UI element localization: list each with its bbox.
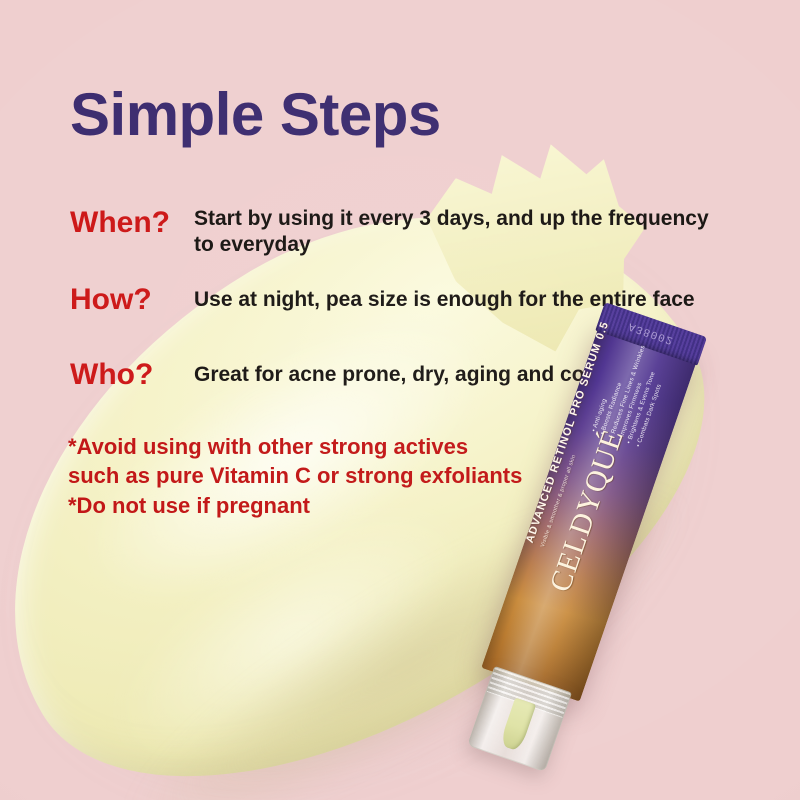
page-title: Simple Steps <box>70 85 441 145</box>
step-row-when: When? Start by using it every 3 days, an… <box>70 206 714 259</box>
step-label-how: How? <box>70 283 194 318</box>
cap-nozzle <box>499 697 536 751</box>
step-label-when: When? <box>70 206 194 241</box>
step-answer-when: Start by using it every 3 days, and up t… <box>194 206 714 259</box>
warning-line-3: *Do not use if pregnant <box>68 491 522 520</box>
step-label-who: Who? <box>70 358 194 393</box>
infographic-canvas: Simple Steps When? Start by using it eve… <box>0 0 800 800</box>
warning-block: *Avoid using with other strong actives s… <box>68 432 522 520</box>
warning-line-2: such as pure Vitamin C or strong exfolia… <box>68 461 522 490</box>
warning-line-1: *Avoid using with other strong actives <box>68 432 522 461</box>
